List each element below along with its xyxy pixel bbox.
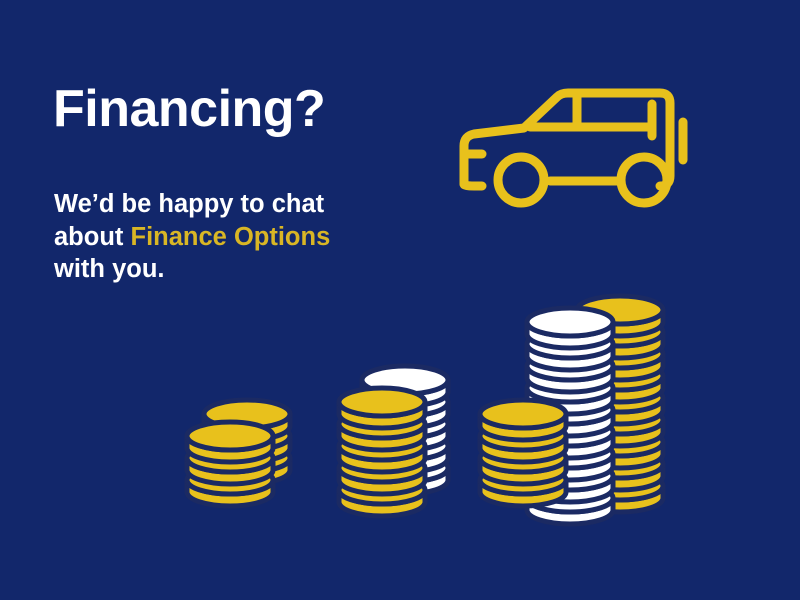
stack-1-front-gold (187, 422, 273, 506)
finance-options-link[interactable]: Finance Options (131, 223, 331, 251)
coin-stack-group-2 (339, 366, 448, 516)
coin-stacks-svg (185, 268, 725, 518)
rear-wheel-icon (621, 157, 667, 203)
suv-car-icon (452, 84, 712, 214)
suv-car-svg (452, 84, 712, 214)
body-line-1: We’d be happy to chat (54, 188, 384, 221)
slide-canvas: Financing? We’d be happy to chat about F… (0, 0, 800, 600)
coin-stack-group-3 (480, 296, 663, 524)
page-title: Financing? (53, 82, 325, 137)
coin-stack-group-1 (187, 400, 290, 506)
body-line-2: about Finance Options (54, 221, 384, 254)
coin-stacks-icon (185, 268, 725, 518)
stack-2-front-gold (339, 388, 425, 516)
body-line-2-prefix: about (54, 223, 131, 251)
stack-3-front-gold (480, 400, 566, 506)
front-wheel-icon (498, 157, 544, 203)
